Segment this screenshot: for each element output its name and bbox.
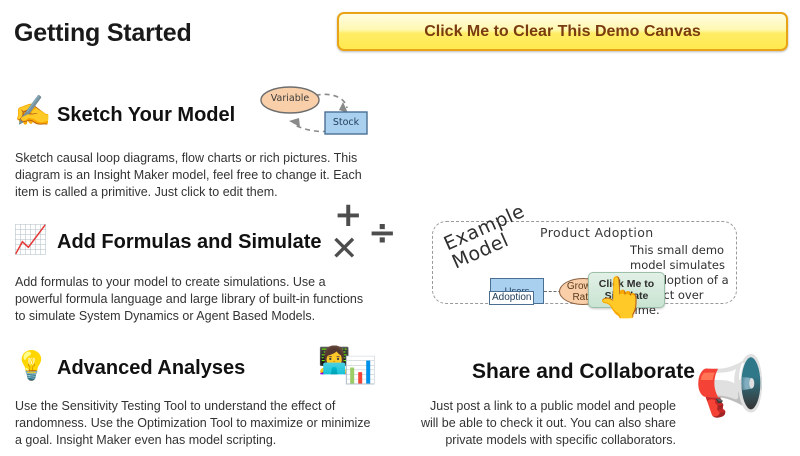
causal-loop-diagram[interactable]: Variable Stock	[245, 82, 370, 140]
times-icon: ✕	[330, 232, 359, 266]
megaphone-icon: 📢	[694, 357, 766, 415]
section-body-advanced: Use the Sensitivity Testing Tool to unde…	[15, 398, 375, 449]
chart-increasing-icon: 📈	[13, 226, 48, 254]
light-bulb-icon: 💡	[14, 352, 49, 380]
example-model-folder-title: Product Adoption	[540, 225, 654, 240]
pointing-hand-icon: 👆	[596, 278, 646, 318]
clear-demo-canvas-label: Click Me to Clear This Demo Canvas	[424, 23, 701, 41]
section-heading-sketch: Sketch Your Model	[57, 104, 235, 127]
writing-hand-icon: ✍️	[14, 97, 51, 127]
cld-stock-label: Stock	[325, 117, 367, 128]
section-heading-formulas: Add Formulas and Simulate	[57, 231, 321, 254]
cld-variable-label: Variable	[261, 93, 319, 104]
section-body-share: Just post a link to a public model and p…	[418, 398, 676, 449]
cld-svg	[245, 82, 370, 140]
clear-demo-canvas-button[interactable]: Click Me to Clear This Demo Canvas	[337, 12, 788, 51]
plus-icon: +	[334, 198, 363, 232]
section-heading-advanced: Advanced Analyses	[57, 357, 245, 380]
divide-icon: ÷	[368, 216, 397, 250]
section-body-formulas: Add formulas to your model to create sim…	[15, 274, 375, 325]
section-heading-share: Share and Collaborate	[472, 360, 695, 384]
page-title: Getting Started	[14, 19, 192, 48]
math-symbols-group: + ÷ ✕	[328, 198, 398, 270]
bar-chart-icon: 📊	[344, 358, 376, 384]
section-body-sketch: Sketch causal loop diagrams, flow charts…	[15, 150, 365, 201]
adoption-flow-label[interactable]: Adoption	[489, 291, 534, 305]
